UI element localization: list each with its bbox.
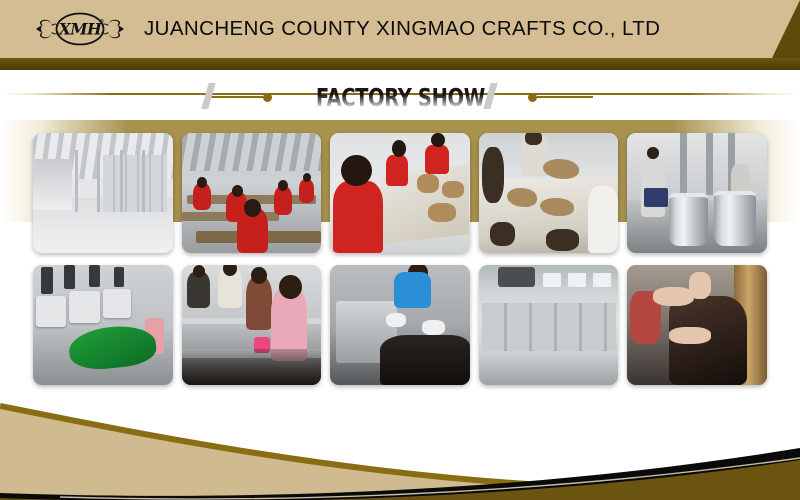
deco-line-right <box>537 96 593 98</box>
gallery-photo-1[interactable] <box>33 133 173 253</box>
photo-1-scene <box>33 133 173 253</box>
photo-4-scene <box>479 133 619 253</box>
gallery-photo-9[interactable] <box>479 265 619 385</box>
photo-gallery-grid <box>33 133 767 385</box>
footer-decoration <box>0 398 800 500</box>
company-logo[interactable]: XMH ® <box>30 6 130 52</box>
gallery-photo-6[interactable] <box>33 265 173 385</box>
photo-6-scene <box>33 265 173 385</box>
header: XMH ® JUANCHENG COUNTY XINGMAO CRAFTS CO… <box>0 0 800 70</box>
photo-7-scene <box>182 265 322 385</box>
section-title: FACTORY SHOW <box>316 85 485 110</box>
gallery-photo-10[interactable] <box>627 265 767 385</box>
deco-dot-right <box>528 93 537 102</box>
photo-2-scene <box>182 133 322 253</box>
photo-3-scene <box>330 133 470 253</box>
deco-dot-left <box>263 93 272 102</box>
header-bottom-shade <box>0 58 800 70</box>
gallery-photo-7[interactable] <box>182 265 322 385</box>
gallery-photo-2[interactable] <box>182 133 322 253</box>
photo-9-scene <box>479 265 619 385</box>
factory-show-banner: XMH ® JUANCHENG COUNTY XINGMAO CRAFTS CO… <box>0 0 800 500</box>
deco-line-left <box>207 96 263 98</box>
gallery-photo-3[interactable] <box>330 133 470 253</box>
gallery-photo-5[interactable] <box>627 133 767 253</box>
gallery-photo-4[interactable] <box>479 133 619 253</box>
section-header: FACTORY SHOW <box>0 80 800 114</box>
photo-5-scene <box>627 133 767 253</box>
svg-text:®: ® <box>100 18 105 25</box>
photo-10-scene <box>627 265 767 385</box>
header-content: XMH ® JUANCHENG COUNTY XINGMAO CRAFTS CO… <box>0 0 800 58</box>
svg-text:XMH: XMH <box>58 20 103 39</box>
page-title: JUANCHENG COUNTY XINGMAO CRAFTS CO., LTD <box>144 17 660 41</box>
gallery-photo-8[interactable] <box>330 265 470 385</box>
photo-8-scene <box>330 265 470 385</box>
